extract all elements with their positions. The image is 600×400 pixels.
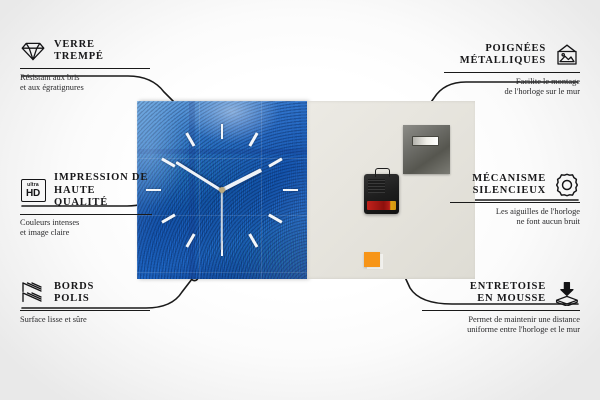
feature-bords-polis[interactable]: BORDS POLIS Surface lisse et sûre	[20, 280, 150, 325]
clock-face	[137, 101, 307, 279]
feature-header: VERRE TREMPÉ	[20, 38, 150, 64]
feature-divider	[444, 72, 580, 73]
metal-hanger-icon	[403, 125, 450, 174]
clock-hand-cap	[219, 187, 225, 193]
feature-header: ultra HD IMPRESSION DE HAUTE QUALITÉ	[20, 172, 152, 210]
feature-divider	[20, 214, 152, 215]
ultra-hd-icon: ultra HD	[20, 178, 46, 204]
feature-divider	[20, 310, 150, 311]
feature-title: IMPRESSION DE HAUTE QUALITÉ	[54, 172, 152, 210]
foam-spacer	[364, 252, 380, 267]
hour-marker-3	[283, 189, 298, 192]
feature-header: POIGNÉES MÉTALLIQUES	[444, 42, 580, 68]
mechanism-detail	[368, 179, 385, 193]
feature-description: Résistant aux bris et aux égratignures	[20, 73, 150, 94]
gear-icon	[554, 172, 580, 198]
feature-header: BORDS POLIS	[20, 280, 150, 306]
clock-hand-second	[221, 190, 223, 250]
quartz-mechanism	[364, 174, 399, 214]
hour-marker-12	[221, 124, 224, 139]
feature-entretoise-en-mousse[interactable]: ENTRETOISE EN MOUSSE Permet de maintenir…	[422, 280, 580, 335]
ultra-hd-icon-label: HD	[26, 189, 40, 199]
feature-impression-haute-qualite[interactable]: ultra HD IMPRESSION DE HAUTE QUALITÉ Cou…	[20, 172, 152, 239]
feature-verre-trempe[interactable]: VERRE TREMPÉ Résistant aux bris et aux é…	[20, 38, 150, 93]
polished-edges-icon	[20, 280, 46, 306]
feature-description: Les aiguilles de l'horloge ne font aucun…	[450, 207, 580, 228]
feature-title: ENTRETOISE EN MOUSSE	[470, 281, 546, 306]
feature-title: MÉCANISME SILENCIEUX	[472, 173, 546, 198]
infographic-canvas: VERRE TREMPÉ Résistant aux bris et aux é…	[0, 0, 600, 400]
feature-mecanisme-silencieux[interactable]: MÉCANISME SILENCIEUX Les aiguilles de l'…	[450, 172, 580, 227]
diamond-icon	[20, 38, 46, 64]
feature-title: VERRE TREMPÉ	[54, 39, 104, 64]
feature-divider	[450, 202, 580, 203]
feature-divider	[422, 310, 580, 311]
feature-header: MÉCANISME SILENCIEUX	[450, 172, 580, 198]
feature-description: Facilite le montage de l'horloge sur le …	[444, 77, 580, 98]
feature-divider	[20, 68, 150, 69]
feature-poignees-metalliques[interactable]: POIGNÉES MÉTALLIQUES Facilite le montage…	[444, 42, 580, 97]
feature-header: ENTRETOISE EN MOUSSE	[422, 280, 580, 306]
product-image	[137, 101, 475, 279]
wall-hanger-icon	[554, 42, 580, 68]
battery	[367, 201, 396, 210]
feature-title: POIGNÉES MÉTALLIQUES	[460, 43, 546, 68]
spacer-arrow-icon	[554, 280, 580, 306]
feature-title: BORDS POLIS	[54, 281, 94, 306]
feature-description: Surface lisse et sûre	[20, 315, 150, 325]
feature-description: Permet de maintenir une distance uniform…	[422, 315, 580, 336]
feature-description: Couleurs intenses et image claire	[20, 218, 152, 239]
